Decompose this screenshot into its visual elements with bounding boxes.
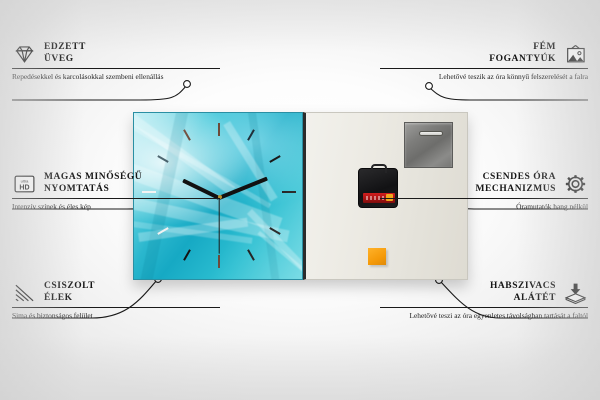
feature-description: Lehetővé teszik az óra könnyű felszerelé… [380,72,588,81]
hour-tick [282,191,296,193]
divider [380,198,588,199]
hour-tick [183,129,191,140]
feature-title: EDZETT [44,42,86,54]
divider [12,307,220,308]
feature-title: ÜVEG [44,54,74,66]
hour-tick [269,155,280,163]
ultra-hd-icon: ultra HD [12,173,37,195]
divider [12,68,220,69]
gear-icon [563,173,588,195]
hour-tick [218,123,220,136]
connector-dot-tempered-glass [184,81,191,88]
connector-tempered-glass [12,86,186,100]
foam-pad [368,248,386,265]
feature-description: Óramutatók hang nélkül [380,202,588,211]
foam-stack-arrow-icon [563,282,588,304]
feature-title: NYOMTATÁS [44,184,109,196]
divider [12,198,220,199]
connector-metal-handles [430,88,588,100]
feature-title: MECHANIZMUS [476,184,556,196]
diamond-icon [12,43,37,65]
svg-text:HD: HD [19,184,29,191]
feature-foam-pad: HABSZIVACS ALÁTÉT Lehetővé teszi az óra … [380,281,588,320]
svg-text:ultra: ultra [21,178,30,183]
feature-description: Intenzív színek és éles kép [12,202,220,211]
feature-title: CSENDES ÓRA [483,172,556,184]
feature-description: Sima és biztonságos felület [12,311,220,320]
hanger-slot [419,131,443,136]
feature-title: FÉM [533,42,556,54]
feature-title: ÉLEK [44,293,73,305]
polished-edge-icon [12,282,37,304]
feature-title: CSISZOLT [44,281,95,293]
feature-title: ALÁTÉT [514,293,556,305]
feature-description: Repedésekkel és karcolásokkal szembeni e… [12,72,220,81]
divider [380,307,588,308]
feature-title: FOGANTYÚK [489,54,556,66]
hour-tick [218,255,220,268]
feature-description: Lehetővé teszi az óra egyenletes távolsá… [380,311,588,320]
framed-picture-hanger-icon [563,43,588,65]
feature-high-quality-print: ultra HD MAGAS MINŐSÉGŰ NYOMTATÁS Intenz… [12,172,220,211]
feature-title: HABSZIVACS [490,281,556,293]
divider [380,68,588,69]
feature-title: MAGAS MINŐSÉGŰ [44,172,142,184]
feature-polished-edges: CSISZOLT ÉLEK Sima és biztonságos felüle… [12,281,220,320]
hour-tick [183,249,191,260]
feature-silent-mechanism: CSENDES ÓRA MECHANIZMUS [380,172,588,211]
feature-metal-handles: FÉM FOGANTYÚK Lehetővé teszik az óra kön… [380,42,588,81]
hour-tick [247,249,255,260]
infographic-canvas: EDZETT ÜVEG Repedésekkel és karcolásokka… [0,0,600,400]
connector-dot-metal-handles [426,83,433,90]
feature-tempered-glass: EDZETT ÜVEG Repedésekkel és karcolásokka… [12,42,220,81]
metal-hanger-plate [404,122,453,168]
